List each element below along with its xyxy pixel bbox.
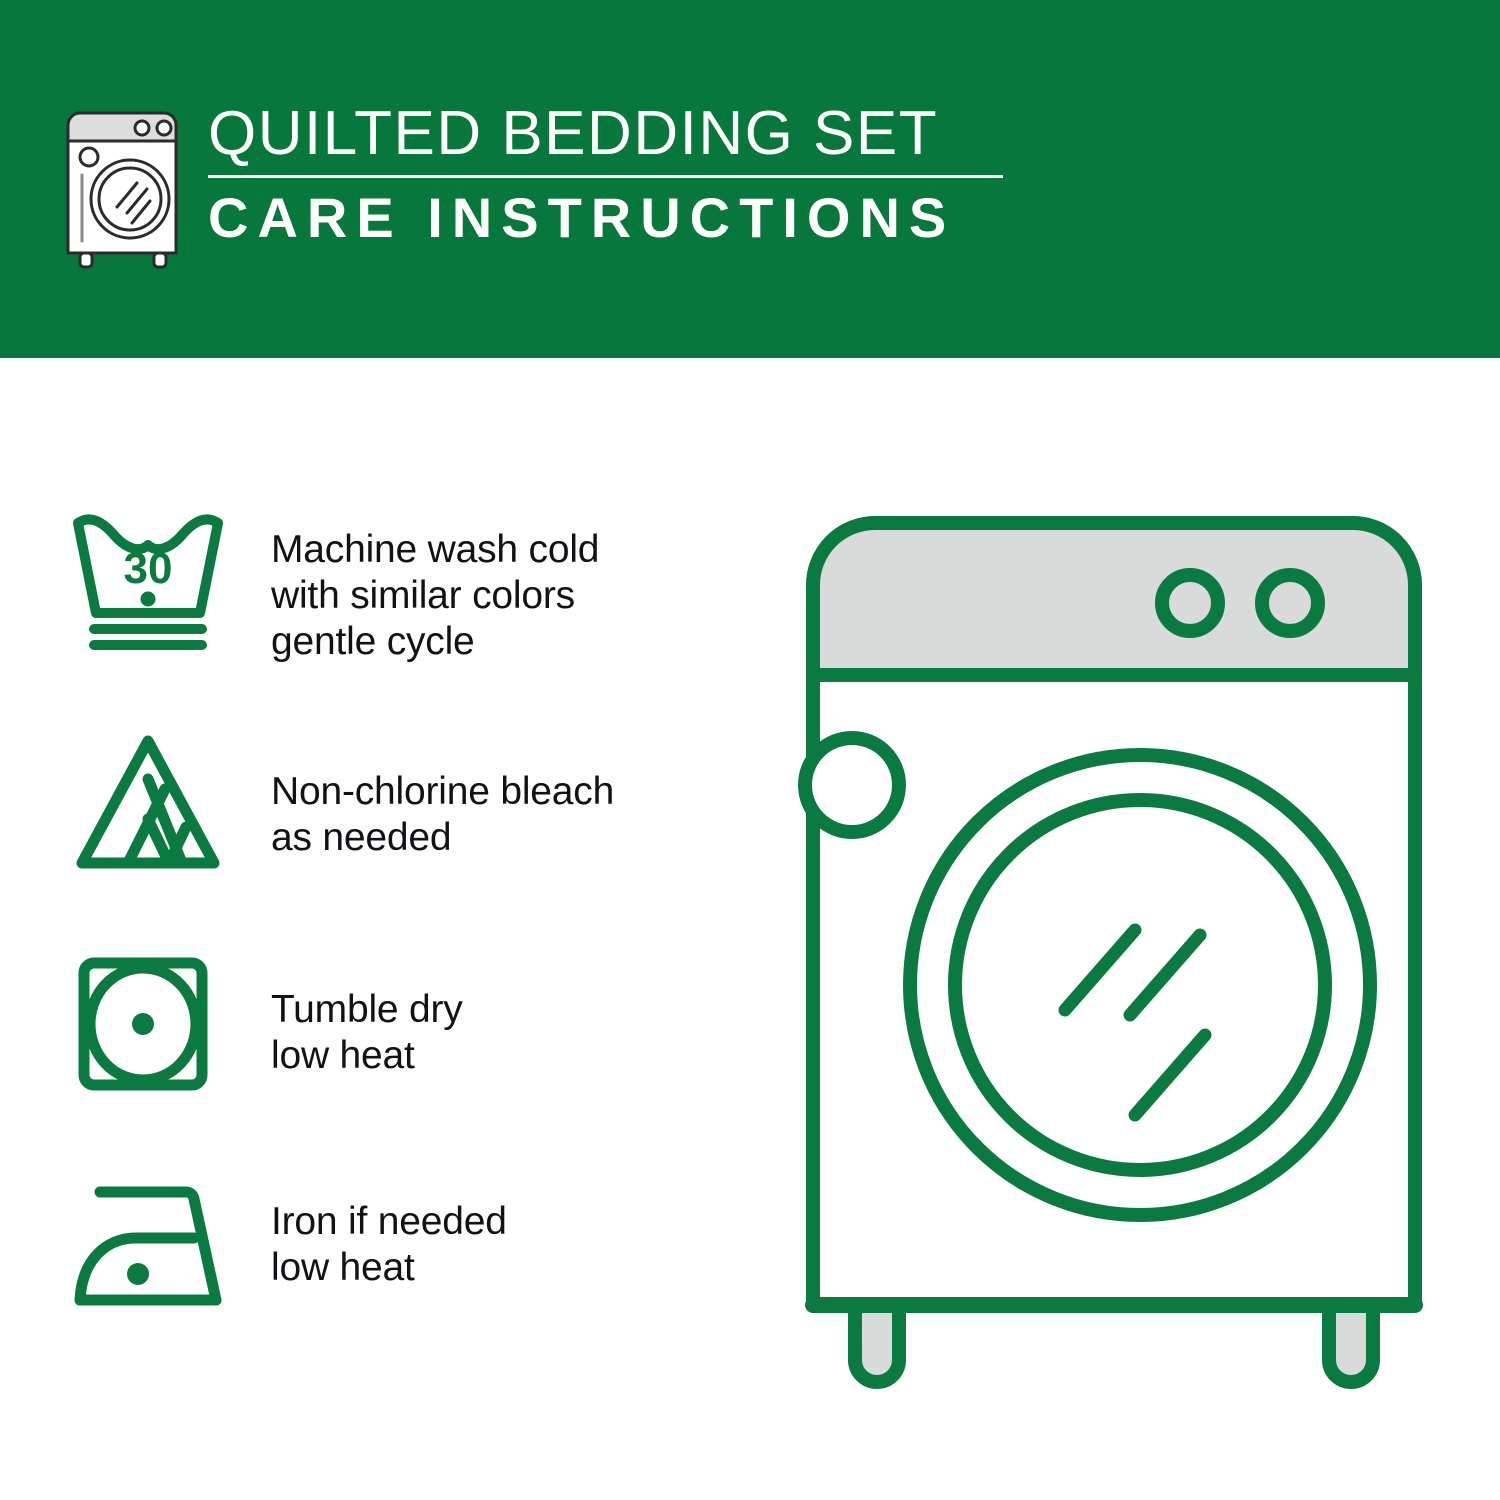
care-line: Machine wash cold (271, 527, 708, 573)
title-divider (208, 175, 1003, 178)
care-row-iron: Iron if needed low heat (68, 1171, 708, 1393)
care-text-iron: Iron if needed low heat (243, 1171, 708, 1291)
tumble-dry-icon (68, 949, 243, 1099)
washing-machine-icon (60, 105, 190, 270)
bleach-triangle-icon (68, 727, 243, 877)
page-title: QUILTED BEDDING SET (208, 99, 1003, 169)
care-line: Non-chlorine bleach (271, 769, 708, 815)
care-line: with similar colors (271, 573, 708, 619)
care-line: as needed (271, 815, 708, 861)
header-text-block: QUILTED BEDDING SET CARE INSTRUCTIONS (208, 95, 1003, 249)
care-line: low heat (271, 1033, 708, 1079)
care-line: low heat (271, 1245, 708, 1291)
wash-temperature-label: 30 (124, 544, 173, 593)
knob-right (1262, 575, 1318, 631)
care-row-tumble-dry: Tumble dry low heat (68, 949, 708, 1171)
wash-tub-icon: 30 (68, 505, 243, 655)
care-line: gentle cycle (271, 619, 708, 665)
care-instruction-list: 30 Machine wash cold with similar colors… (68, 505, 708, 1393)
indicator-light (805, 738, 899, 832)
leg-right (1329, 1305, 1373, 1382)
care-row-machine-wash: 30 Machine wash cold with similar colors… (68, 505, 708, 727)
washing-machine-illustration (745, 505, 1445, 1415)
care-text-bleach: Non-chlorine bleach as needed (243, 727, 708, 861)
care-row-bleach: Non-chlorine bleach as needed (68, 727, 708, 949)
care-instructions-page: QUILTED BEDDING SET CARE INSTRUCTIONS (0, 0, 1500, 1500)
care-line: Iron if needed (271, 1199, 708, 1245)
leg-left (855, 1305, 899, 1382)
care-text-tumble-dry: Tumble dry low heat (243, 949, 708, 1079)
care-line: Tumble dry (271, 987, 708, 1033)
care-text-machine-wash: Machine wash cold with similar colors ge… (243, 505, 708, 665)
header-band: QUILTED BEDDING SET CARE INSTRUCTIONS (0, 0, 1500, 358)
header-content: QUILTED BEDDING SET CARE INSTRUCTIONS (60, 95, 1003, 270)
page-subtitle: CARE INSTRUCTIONS (208, 187, 1003, 249)
iron-icon (68, 1171, 243, 1321)
knob-left (1162, 575, 1218, 631)
